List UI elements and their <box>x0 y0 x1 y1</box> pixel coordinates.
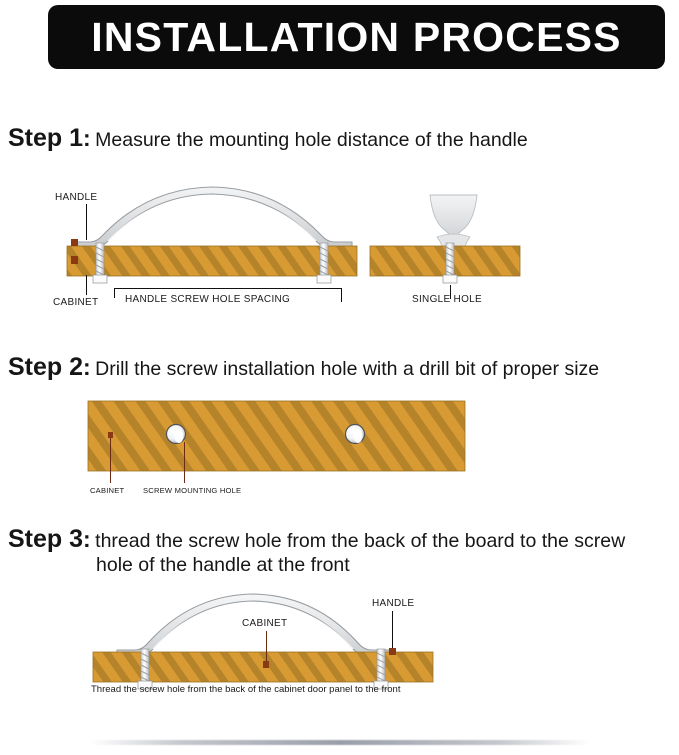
label-cabinet-step1: CABINET <box>53 297 98 308</box>
leader-cabinet-step1 <box>86 275 87 295</box>
knob-graphic <box>430 195 477 248</box>
cabinet-board-right-graphic <box>370 246 520 276</box>
label-single-hole-step1: SINGLE HOLE <box>412 294 482 305</box>
caption-step3: Thread the screw hole from the back of t… <box>91 684 400 695</box>
step-2-colon: : <box>83 354 91 380</box>
leader-mounting-hole-step2 <box>184 442 185 483</box>
step-3-description: thread the screw hole from the back of t… <box>95 530 625 552</box>
step-1-colon: : <box>83 125 91 151</box>
bow-handle-graphic <box>72 187 352 248</box>
bottom-shelf-line <box>90 740 590 745</box>
marker-cabinet-step1 <box>71 256 78 264</box>
step-2-diagram <box>0 396 679 486</box>
step-1-heading: Step 1: Measure the mounting hole distan… <box>8 124 528 154</box>
step-2-description: Drill the screw installation hole with a… <box>95 358 599 380</box>
step-3-number: Step 3 <box>8 525 83 553</box>
step-1-number: Step 1 <box>8 124 83 152</box>
label-cabinet-step3: CABINET <box>242 618 287 629</box>
leader-cabinet-step3 <box>266 631 267 663</box>
marker-handle-step3 <box>389 648 396 655</box>
infographic-page: INSTALLATION PROCESS Step 1: Measure the… <box>0 0 679 755</box>
step-3-description-line2: hole of the handle at the front <box>96 554 625 577</box>
screw-mounting-hole-1 <box>167 425 186 444</box>
page-title: INSTALLATION PROCESS <box>91 17 621 58</box>
step-2-heading: Step 2: Drill the screw installation hol… <box>8 353 599 383</box>
leader-cabinet-step2 <box>110 438 111 483</box>
step-3-colon: : <box>83 526 91 552</box>
dim-tick-left-step1 <box>114 288 115 298</box>
dim-tick-right-step1 <box>341 288 342 302</box>
marker-handle-step1 <box>71 239 78 246</box>
dim-line-step1 <box>114 288 342 289</box>
screw-mounting-hole-2 <box>346 425 365 444</box>
label-handle-step3: HANDLE <box>372 598 414 609</box>
cabinet-board-graphic <box>67 246 357 276</box>
cabinet-board-step2-graphic <box>88 401 465 471</box>
leader-handle-step3 <box>392 611 393 649</box>
step-2-number: Step 2 <box>8 353 83 381</box>
step-1-description: Measure the mounting hole distance of th… <box>95 129 528 151</box>
step-1-diagram <box>0 185 679 320</box>
label-handle-step1: HANDLE <box>55 192 97 203</box>
title-banner: INSTALLATION PROCESS <box>48 5 665 69</box>
label-cabinet-step2: CABINET <box>90 486 124 495</box>
label-screw-mounting-hole-step2: SCREW MOUNTING HOLE <box>143 486 241 495</box>
leader-handle-step1 <box>86 204 87 240</box>
step-3-heading: Step 3: thread the screw hole from the b… <box>8 525 625 577</box>
label-hole-spacing-step1: HANDLE SCREW HOLE SPACING <box>125 294 290 305</box>
marker-cabinet-step3 <box>263 661 269 668</box>
